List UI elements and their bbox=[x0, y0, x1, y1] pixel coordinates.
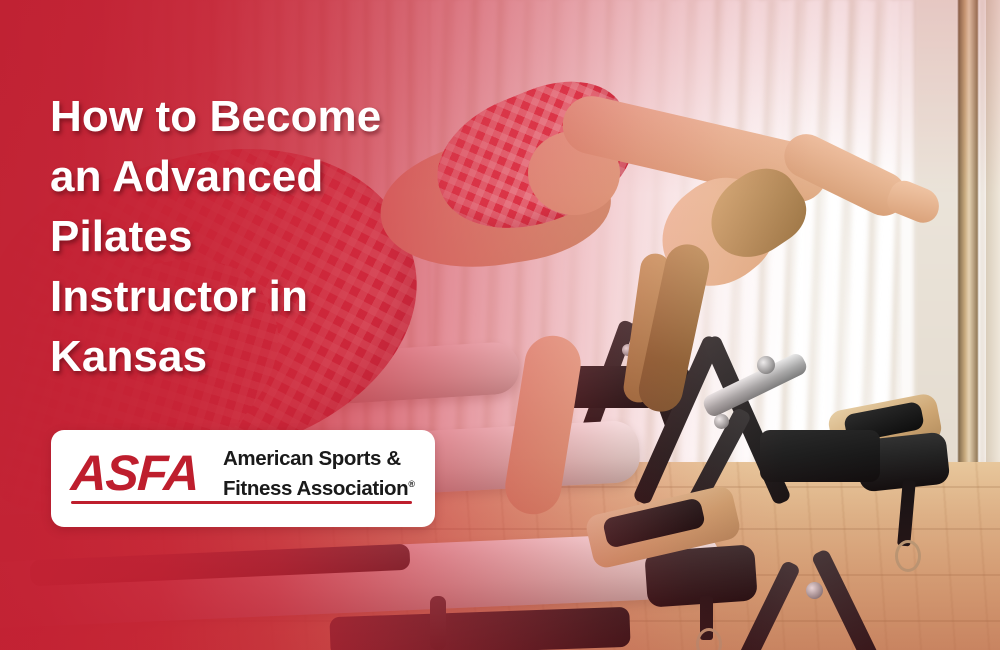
page-title: How to Become an Advanced Pilates Instru… bbox=[50, 87, 470, 387]
logo-underline-rule bbox=[71, 501, 412, 504]
asfa-logo-card[interactable]: ASFA American Sports & Fitness Associati… bbox=[51, 430, 435, 527]
org-name-line-2-text: Fitness Association bbox=[223, 476, 408, 499]
org-name-line-1: American Sports & bbox=[223, 447, 423, 472]
promo-banner: How to Become an Advanced Pilates Instru… bbox=[0, 0, 1000, 650]
registered-trademark-icon: ® bbox=[408, 479, 415, 489]
org-name-line-2: Fitness Association® bbox=[223, 472, 423, 501]
headline-line-2: an Advanced bbox=[50, 147, 470, 207]
asfa-org-name: American Sports & Fitness Association® bbox=[223, 447, 423, 501]
headline-line-4: Instructor in bbox=[50, 267, 470, 327]
asfa-logo: ASFA American Sports & Fitness Associati… bbox=[71, 445, 415, 511]
headline-line-5: Kansas bbox=[50, 327, 470, 387]
asfa-wordmark: ASFA bbox=[70, 447, 200, 499]
headline-line-3: Pilates bbox=[50, 207, 470, 267]
headline-line-1: How to Become bbox=[50, 87, 470, 147]
